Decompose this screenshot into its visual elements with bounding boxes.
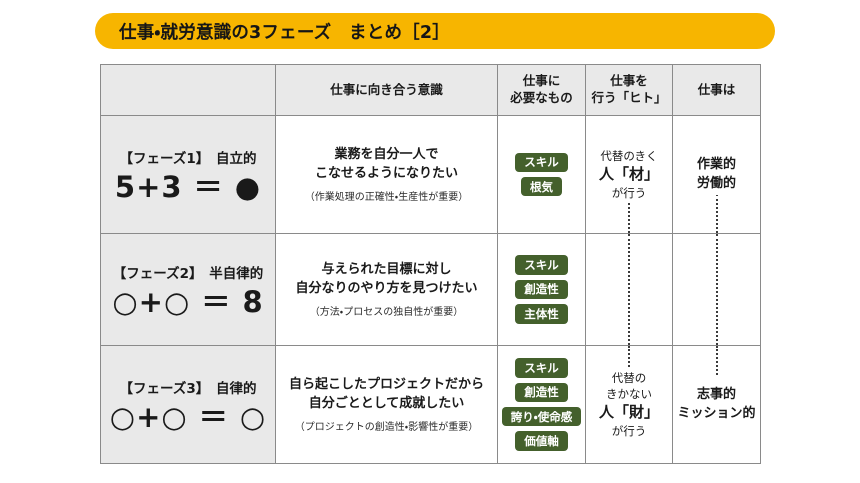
requirements-cell: スキル根気 [498, 116, 586, 234]
person-main: 人「財」 [599, 402, 659, 422]
phase-cell: 【フェーズ1】 自立的5+3 ＝ ● [101, 116, 276, 234]
table-body: 【フェーズ1】 自立的5+3 ＝ ●業務を自分一人で こなせるようになりたい（作… [101, 116, 761, 464]
header-requirements-line2: 必要なもの [498, 90, 585, 107]
phase-cell: 【フェーズ2】 半自律的○+○ ＝ 8 [101, 234, 276, 346]
description-note: （方法・プロセスの独自性が重要） [276, 303, 497, 318]
phase-label: 【フェーズ2】 半自律的 [101, 262, 275, 282]
page-title: 仕事・就労意識の3フェーズ まとめ［2］ [119, 19, 450, 44]
worknature-label: 作業的 労働的 [697, 156, 736, 192]
header-person-line2: 行う「ヒト」 [586, 90, 672, 107]
phase-formula: ○+○ ＝ ○ [101, 403, 275, 432]
person-bottom: が行う [599, 423, 659, 439]
header-requirements-line1: 仕事に [498, 73, 585, 90]
tag-stack: スキル根気 [498, 153, 585, 197]
description-cell: 業務を自分一人で こなせるようになりたい（作業処理の正確性・生産性が重要） [276, 116, 498, 234]
worknature-text: 志事的 ミッション的 [673, 384, 759, 424]
description-main: 自ら起こしたプロジェクトだから 自分ごととして成就したい [276, 376, 497, 414]
phase-formula: ○+○ ＝ 8 [101, 288, 275, 317]
tag-stack: スキル創造性主体性 [498, 255, 585, 323]
description-cell: 与えられた目標に対し 自分なりのやり方を見つけたい（方法・プロセスの独自性が重要… [276, 234, 498, 346]
requirement-tag: 価値軸 [515, 431, 568, 450]
requirement-tag: 創造性 [515, 280, 568, 299]
table-row: 【フェーズ2】 半自律的○+○ ＝ 8与えられた目標に対し 自分なりのやり方を見… [101, 234, 761, 346]
table-row: 【フェーズ1】 自立的5+3 ＝ ●業務を自分一人で こなせるようになりたい（作… [101, 116, 761, 234]
requirement-tag: スキル [515, 255, 568, 274]
phase-label: 【フェーズ1】 自立的 [101, 147, 275, 167]
person-text: 代替の きかない人「財」が行う [595, 368, 663, 441]
worknature-cell: 作業的 労働的 [673, 116, 761, 234]
dotted-connector [716, 346, 718, 375]
requirement-tag: スキル [515, 153, 568, 172]
requirement-tag: 誇り・使命感 [502, 407, 581, 426]
phase-formula: 5+3 ＝ ● [101, 173, 275, 202]
header-cell-attitude: 仕事に向き合う意識 [276, 65, 498, 116]
table-header-row: 仕事に向き合う意識 仕事に 必要なもの 仕事を 行う「ヒト」 仕事は [101, 65, 761, 116]
description-main: 業務を自分一人で こなせるようになりたい [276, 146, 497, 184]
worknature-cell [673, 234, 761, 346]
header-cell-person: 仕事を 行う「ヒト」 [586, 65, 673, 116]
description-main: 与えられた目標に対し 自分なりのやり方を見つけたい [276, 261, 497, 299]
description-note: （プロジェクトの創造性・影響性が重要） [276, 418, 497, 433]
header-person-line1: 仕事を [586, 73, 672, 90]
requirement-tag: 根気 [521, 177, 562, 196]
requirements-cell: スキル創造性主体性 [498, 234, 586, 346]
person-text: 代替のきく人「材」が行う [595, 146, 663, 202]
tag-stack: スキル創造性誇り・使命感価値軸 [498, 358, 585, 451]
worknature-label: 志事的 ミッション的 [677, 386, 755, 422]
person-top: 代替の きかない [599, 370, 659, 402]
description-cell: 自ら起こしたプロジェクトだから 自分ごととして成就したい（プロジェクトの創造性・… [276, 346, 498, 464]
worknature-text: 作業的 労働的 [693, 154, 740, 194]
requirement-tag: 創造性 [515, 383, 568, 402]
phase-label: 【フェーズ3】 自律的 [101, 377, 275, 397]
header-cell-worknature: 仕事は [673, 65, 761, 116]
person-bottom: が行う [599, 185, 659, 201]
description-note: （作業処理の正確性・生産性が重要） [276, 188, 497, 203]
worknature-cell: 志事的 ミッション的 [673, 346, 761, 464]
person-main: 人「材」 [599, 164, 659, 184]
person-top: 代替のきく [599, 148, 659, 164]
person-cell: 代替のきく人「材」が行う [586, 116, 673, 234]
slide-title-banner: 仕事・就労意識の3フェーズ まとめ［2］ [95, 13, 775, 49]
header-cell-requirements: 仕事に 必要なもの [498, 65, 586, 116]
phase-summary-table: 仕事に向き合う意識 仕事に 必要なもの 仕事を 行う「ヒト」 仕事は 【フェーズ… [100, 64, 761, 464]
person-cell: 代替の きかない人「財」が行う [586, 346, 673, 464]
dotted-connector [716, 234, 718, 345]
dotted-connector [628, 234, 630, 345]
phase-cell: 【フェーズ3】 自律的○+○ ＝ ○ [101, 346, 276, 464]
header-worknature-line1: 仕事は [673, 82, 760, 99]
person-cell [586, 234, 673, 346]
table-row: 【フェーズ3】 自律的○+○ ＝ ○自ら起こしたプロジェクトだから 自分ごととし… [101, 346, 761, 464]
dotted-connector [716, 194, 718, 233]
requirement-tag: スキル [515, 358, 568, 377]
header-cell-phase [101, 65, 276, 116]
requirement-tag: 主体性 [515, 304, 568, 323]
header-attitude-line1: 仕事に向き合う意識 [276, 82, 497, 99]
requirements-cell: スキル創造性誇り・使命感価値軸 [498, 346, 586, 464]
